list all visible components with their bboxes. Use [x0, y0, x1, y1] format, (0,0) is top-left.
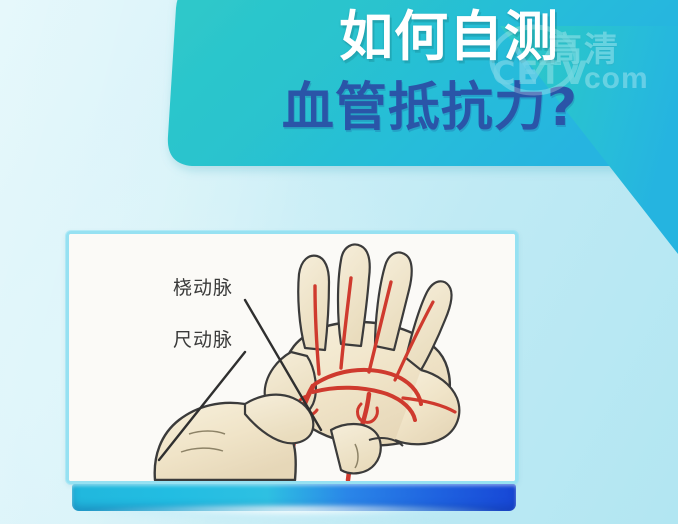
illustration-frame: 桡动脉 尺动脉: [66, 231, 518, 484]
hand-artery-illustration: 桡动脉 尺动脉: [69, 234, 515, 481]
headline-banner: [0, 0, 678, 256]
banner-shape: [0, 0, 678, 256]
illustration-canvas: 桡动脉 尺动脉: [69, 234, 515, 481]
label-ulnar-artery: 尺动脉: [173, 329, 233, 351]
display-base-glow: [84, 505, 504, 521]
label-radial-artery: 桡动脉: [173, 277, 233, 299]
